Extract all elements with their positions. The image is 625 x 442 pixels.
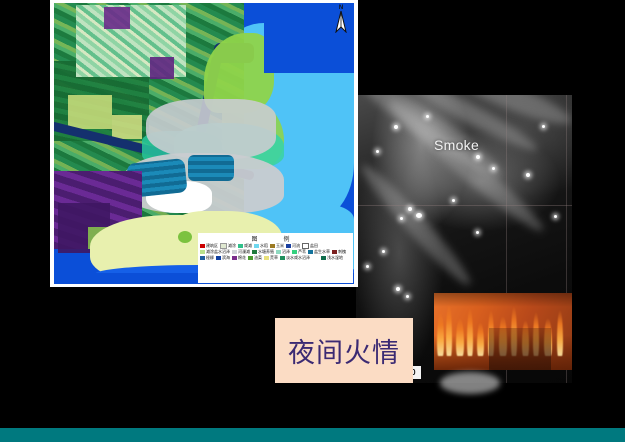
map-legend-title: 图 例 [198, 233, 353, 243]
flame [477, 322, 484, 356]
hotspot [492, 167, 495, 170]
hotspot-cluster [416, 213, 422, 218]
hotspot [396, 287, 400, 291]
land-cover-classification-map: N 图 例 建筑区 滩涂 咸滩 水稻 玉米 河流 盐田 滩涂盐水沼泽 河漫滩 水… [50, 0, 358, 287]
hotspot [554, 215, 557, 218]
flame [437, 312, 444, 356]
slide-canvas: Smoke 7.0 [0, 0, 625, 442]
flame [557, 310, 563, 356]
legend-swatch [238, 244, 243, 248]
legend-item: 棉花 [232, 255, 246, 261]
legend-swatch [332, 250, 337, 254]
hotspot [426, 115, 429, 118]
hotspot [366, 265, 369, 268]
legend-label: 滨海 [222, 255, 230, 261]
hotspot [542, 125, 545, 128]
legend-item: 荒草 [264, 255, 278, 261]
legend-swatch [200, 256, 205, 260]
hotspot [452, 199, 455, 202]
hotspot [376, 150, 379, 153]
graticule-line-horizontal [356, 205, 572, 206]
legend-swatch [270, 244, 275, 248]
legend-label: 柽柳 [206, 255, 214, 261]
hotspot [382, 250, 385, 253]
legend-label: 棉花 [238, 255, 246, 261]
legend-swatch [200, 244, 205, 248]
legend-swatch [200, 250, 205, 254]
hotspot [526, 173, 530, 177]
caption-label: 夜间火情 [288, 331, 400, 370]
legend-item: 油菜 [248, 255, 262, 261]
legend-swatch [286, 244, 291, 248]
hotspot [406, 295, 409, 298]
legend-label: 油菜 [254, 255, 262, 261]
legend-label: 荒草 [270, 255, 278, 261]
hotspot [476, 231, 479, 234]
legend-swatch [248, 256, 253, 260]
legend-item: 浅水湿地 [321, 255, 343, 261]
legend-swatch [254, 244, 259, 248]
hotspot [476, 155, 480, 159]
caption-text-box: 夜间火情 [275, 318, 413, 383]
map-legend-items: 建筑区 滩涂 咸滩 水稻 玉米 河流 盐田 滩涂盐水沼泽 河漫滩 水塘养殖 沼泽… [198, 243, 353, 261]
legend-swatch [216, 256, 221, 260]
legend-swatch [276, 250, 281, 254]
hotspot [394, 125, 398, 129]
hotspot [400, 217, 403, 220]
legend-swatch [264, 256, 269, 260]
legend-swatch [280, 256, 285, 260]
footer-accent-band [0, 428, 625, 442]
legend-swatch [292, 250, 297, 254]
north-arrow-icon: N [333, 5, 349, 35]
legend-label: 淡水咸水沼泽 [286, 255, 310, 261]
legend-swatch [308, 250, 313, 254]
legend-swatch [232, 250, 237, 254]
legend-item: 柽柳 [200, 255, 214, 261]
legend-swatch [252, 250, 257, 254]
nighttime-fire-photo-inset [434, 293, 572, 370]
legend-label: 浅水湿地 [327, 255, 343, 261]
legend-item: 淡水咸水沼泽 [280, 255, 310, 261]
map-legend: 图 例 建筑区 滩涂 咸滩 水稻 玉米 河流 盐田 滩涂盐水沼泽 河漫滩 水塘养… [198, 233, 353, 283]
legend-item: 滨海 [216, 255, 230, 261]
legend-swatch [232, 256, 237, 260]
hotspot [408, 207, 412, 211]
legend-swatch [321, 256, 326, 260]
smoke-ash-glow [440, 372, 500, 394]
fire-shadow-band [489, 328, 551, 370]
